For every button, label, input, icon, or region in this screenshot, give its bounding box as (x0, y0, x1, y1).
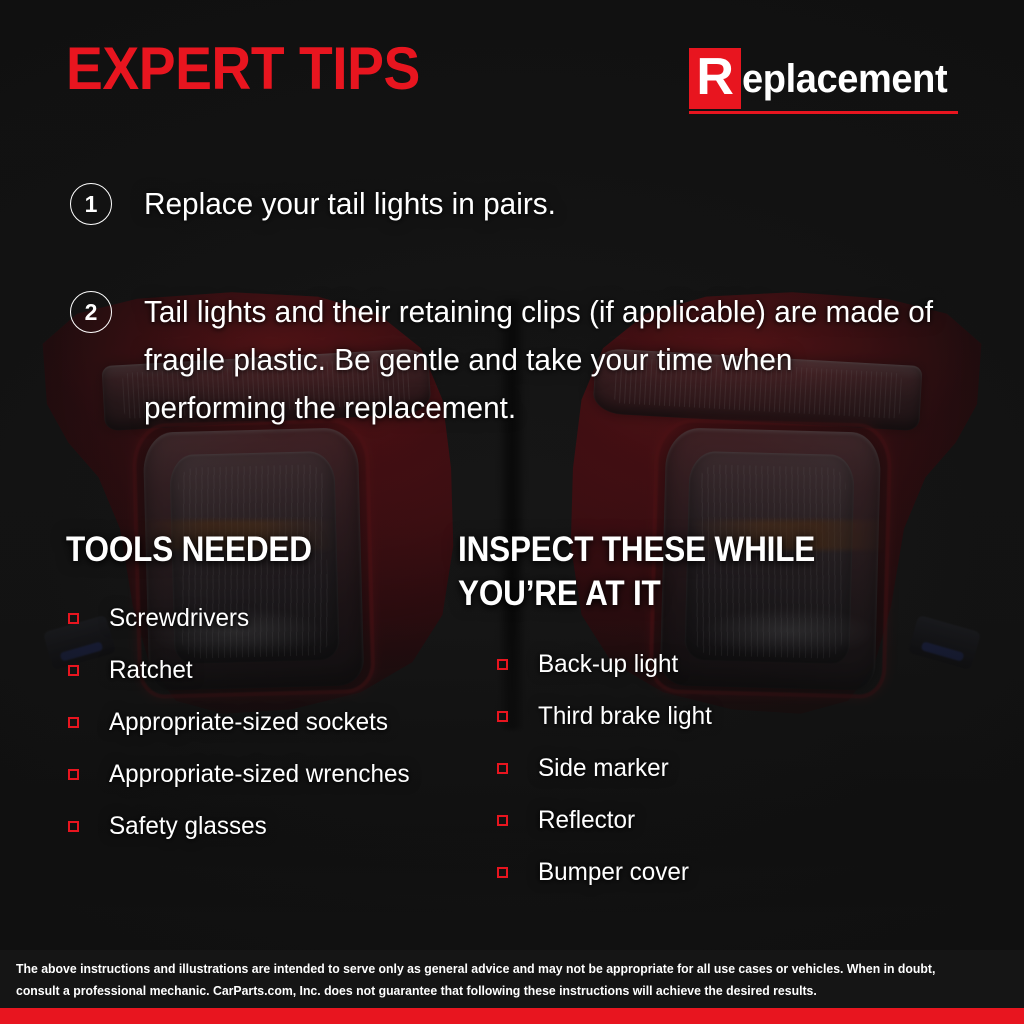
logo-wordmark: eplacement (742, 57, 947, 101)
list-item: Back-up light (497, 649, 717, 679)
page-title: EXPERT TIPS (66, 38, 420, 100)
list-item-label: Bumper cover (538, 857, 689, 887)
list-item: Appropriate-sized wrenches (68, 759, 419, 789)
tip-number-badge: 2 (70, 291, 112, 333)
replacement-logo: R eplacement (689, 48, 958, 114)
list-item: Ratchet (68, 655, 419, 685)
checkbox-icon (497, 659, 508, 670)
list-item: Screwdrivers (68, 603, 419, 633)
tools-needed-heading: TOOLS NEEDED (66, 528, 312, 572)
checkbox-icon (68, 821, 79, 832)
list-item-label: Appropriate-sized wrenches (109, 759, 410, 789)
bottom-accent-bar (0, 1008, 1024, 1024)
checkbox-icon (68, 613, 79, 624)
tools-needed-list: Screwdrivers Ratchet Appropriate-sized s… (68, 603, 419, 863)
list-item: Reflector (497, 805, 717, 835)
checkbox-icon (68, 717, 79, 728)
checkbox-icon (497, 815, 508, 826)
checkbox-icon (68, 769, 79, 780)
list-item: Safety glasses (68, 811, 419, 841)
inspect-these-heading: INSPECT THESE WHILE YOU’RE AT IT (458, 528, 836, 616)
tip-text: Tail lights and their retaining clips (i… (144, 288, 941, 432)
list-item: Bumper cover (497, 857, 717, 887)
list-item-label: Third brake light (538, 701, 712, 731)
list-item-label: Safety glasses (109, 811, 267, 841)
checkbox-icon (497, 711, 508, 722)
content-layer: EXPERT TIPS R eplacement 1 Replace your … (0, 0, 1024, 1024)
list-item: Side marker (497, 753, 717, 783)
list-item-label: Appropriate-sized sockets (109, 707, 388, 737)
inspect-these-list: Back-up light Third brake light Side mar… (497, 649, 717, 909)
list-item-label: Screwdrivers (109, 603, 249, 633)
tip-item-1: 1 Replace your tail lights in pairs. (70, 180, 573, 228)
expert-tips-infographic: EXPERT TIPS R eplacement 1 Replace your … (0, 0, 1024, 1024)
tip-item-2: 2 Tail lights and their retaining clips … (70, 288, 974, 432)
tip-text: Replace your tail lights in pairs. (144, 180, 556, 228)
tip-number-badge: 1 (70, 183, 112, 225)
list-item: Third brake light (497, 701, 717, 731)
list-item-label: Side marker (538, 753, 669, 783)
checkbox-icon (497, 763, 508, 774)
list-item-label: Back-up light (538, 649, 678, 679)
checkbox-icon (497, 867, 508, 878)
logo-row: R eplacement (689, 48, 958, 109)
checkbox-icon (68, 665, 79, 676)
logo-letter-mark: R (689, 48, 741, 109)
list-item: Appropriate-sized sockets (68, 707, 419, 737)
list-item-label: Reflector (538, 805, 635, 835)
list-item-label: Ratchet (109, 655, 193, 685)
logo-underline (689, 111, 958, 114)
footer-disclaimer: The above instructions and illustrations… (16, 958, 939, 1002)
